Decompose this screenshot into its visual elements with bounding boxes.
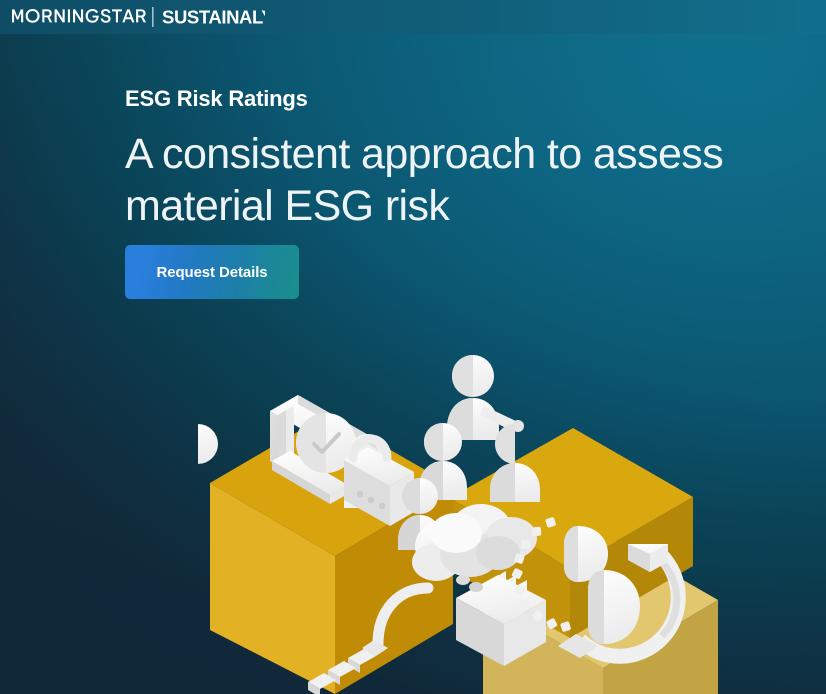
- brand-logo[interactable]: SUSTAINALYTICS: [10, 6, 265, 28]
- hero-headline: A consistent approach to assess material…: [125, 128, 765, 233]
- logo-divider: [152, 7, 154, 27]
- sustainalytics-wordmark: SUSTAINALYTICS: [162, 7, 265, 28]
- esg-isometric-illustration: [198, 348, 738, 694]
- request-details-button[interactable]: Request Details: [125, 245, 299, 299]
- morningstar-sustainalytics-logo-mark: SUSTAINALYTICS: [10, 6, 265, 28]
- svg-text:SUSTAINALYTICS: SUSTAINALYTICS: [162, 7, 265, 28]
- morningstar-wordmark: [12, 9, 146, 23]
- hero-copy: ESG Risk Ratings A consistent approach t…: [125, 86, 765, 233]
- isometric-scene: [198, 348, 738, 694]
- hero-eyebrow: ESG Risk Ratings: [125, 86, 765, 112]
- esg-risk-ratings-hero-page: SUSTAINALYTICS ESG Risk Ratings A consis…: [0, 0, 826, 694]
